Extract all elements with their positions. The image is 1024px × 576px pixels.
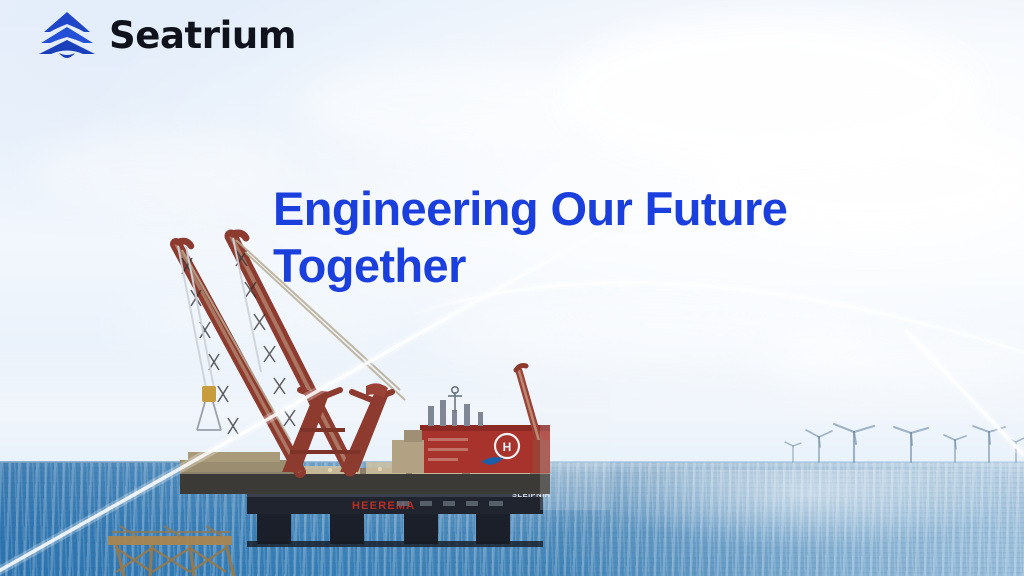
horizon-line (0, 461, 1024, 463)
horizon-haze (0, 340, 1024, 468)
cloud (300, 60, 600, 150)
sea-sun-glint (540, 470, 1024, 550)
page-title: Engineering Our Future Together (273, 180, 913, 295)
seatrium-triangle-wave-logo (38, 10, 96, 60)
headline-line-2: Together (273, 237, 913, 294)
brand-wordmark: Seatrium (109, 17, 296, 54)
cloud (30, 130, 290, 210)
presentation-slide: HEEREMA SLEIPNIR (0, 0, 1024, 576)
headline-line-1: Engineering Our Future (273, 182, 787, 235)
brand-logo[interactable]: Seatrium (38, 10, 296, 60)
